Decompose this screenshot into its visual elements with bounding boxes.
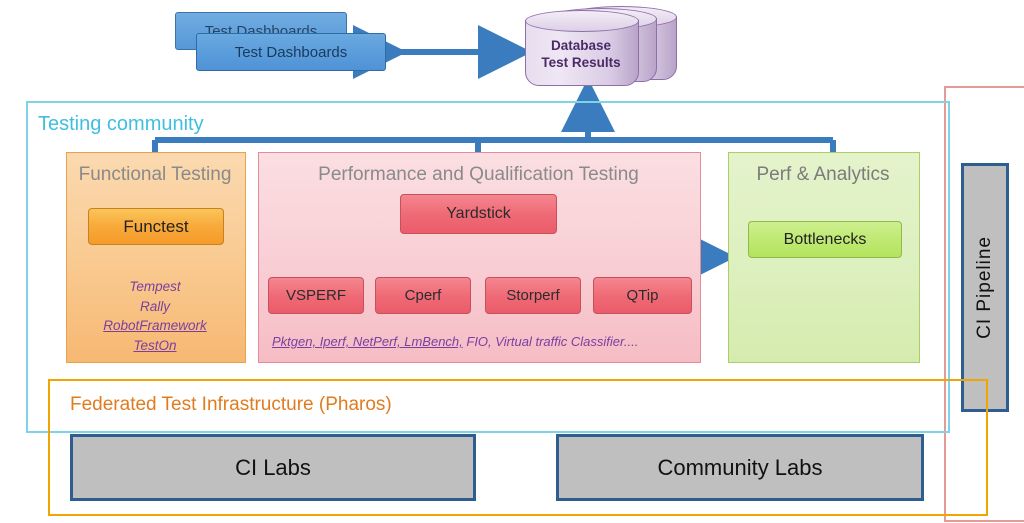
bottlenecks-box[interactable]: Bottlenecks — [748, 221, 902, 258]
test-dashboards-front-card[interactable]: Test Dashboards — [196, 33, 386, 71]
community-labs-box[interactable]: Community Labs — [556, 434, 924, 501]
bottlenecks-label: Bottlenecks — [784, 231, 867, 249]
pharos-label: Federated Test Infrastructure (Pharos) — [70, 394, 392, 416]
qtip-label: QTip — [627, 287, 659, 304]
functional-testing-title: Functional Testing — [66, 160, 244, 190]
ci-pipeline-label: CI Pipeline — [974, 236, 996, 339]
perf-analytics-title: Perf & Analytics — [728, 160, 918, 190]
functest-label: Functest — [123, 217, 188, 237]
functional-tool-list: Tempest Rally RobotFramework TestOn — [66, 277, 244, 355]
database-label-line2: Test Results — [541, 55, 620, 72]
yardstick-label: Yardstick — [446, 205, 511, 223]
functest-box[interactable]: Functest — [88, 208, 224, 245]
storperf-box[interactable]: Storperf — [485, 277, 581, 314]
ci-labs-label: CI Labs — [235, 455, 311, 481]
tool-robotframework: RobotFramework — [66, 316, 244, 336]
tool-rally: Rally — [66, 297, 244, 317]
performance-tools-plain: FIO, Virtual traffic Classifier.... — [463, 334, 639, 349]
performance-testing-title: Performance and Qualification Testing — [258, 160, 699, 190]
vsperf-box[interactable]: VSPERF — [268, 277, 364, 314]
yardstick-box[interactable]: Yardstick — [400, 194, 557, 234]
ci-labs-box[interactable]: CI Labs — [70, 434, 476, 501]
database-label: Database Test Results — [525, 32, 637, 78]
testing-community-title: Testing community — [38, 113, 204, 136]
performance-tools-underlined: Pktgen, Iperf, NetPerf, LmBench, — [272, 334, 463, 349]
ci-pipeline-box[interactable]: CI Pipeline — [961, 163, 1009, 412]
database-front-top — [525, 10, 639, 32]
vsperf-label: VSPERF — [286, 287, 346, 304]
storperf-label: Storperf — [506, 287, 559, 304]
database-cylinder: Database Test Results — [525, 6, 677, 90]
performance-tool-list: Pktgen, Iperf, NetPerf, LmBench, FIO, Vi… — [272, 334, 692, 349]
qtip-box[interactable]: QTip — [593, 277, 692, 314]
tool-teston: TestOn — [66, 336, 244, 356]
community-labs-label: Community Labs — [657, 455, 822, 481]
tool-tempest: Tempest — [66, 277, 244, 297]
database-label-line1: Database — [551, 38, 611, 55]
test-dashboards-front-label: Test Dashboards — [235, 44, 348, 61]
cperf-box[interactable]: Cperf — [375, 277, 471, 314]
cperf-label: Cperf — [405, 287, 442, 304]
